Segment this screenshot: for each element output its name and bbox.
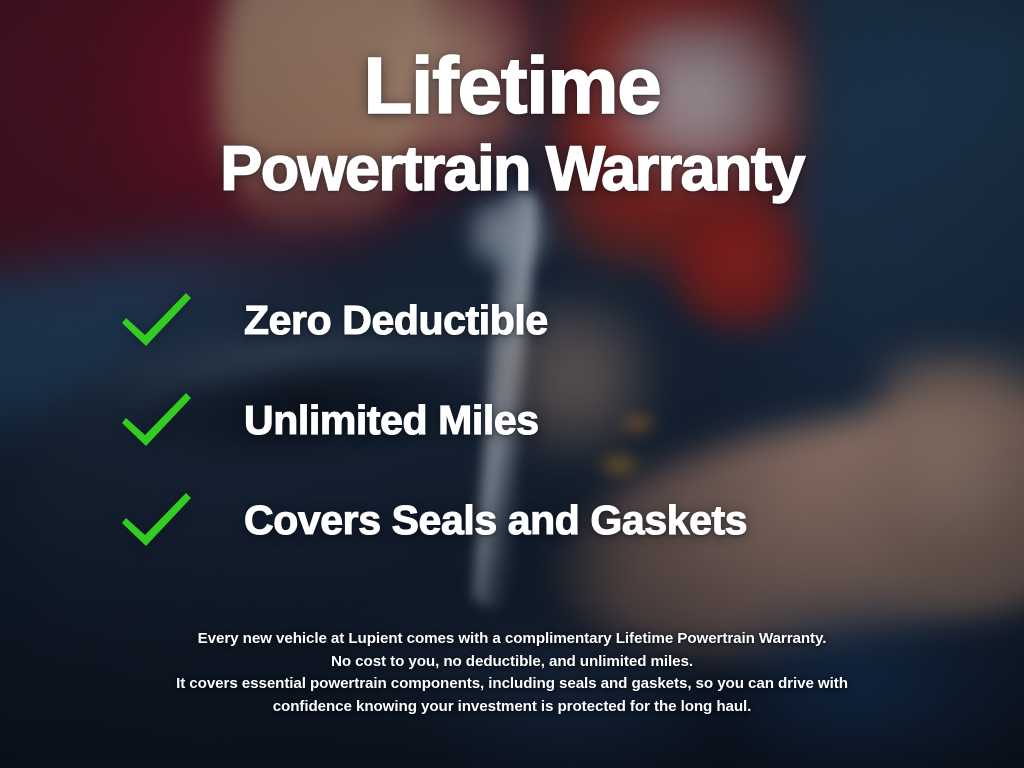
- feature-item: Covers Seals and Gaskets: [118, 486, 948, 554]
- body-copy-line-1: Every new vehicle at Lupient comes with …: [0, 628, 1024, 651]
- feature-list: Zero Deductible Unlimited Miles Covers S…: [118, 286, 948, 554]
- check-icon: [118, 290, 194, 350]
- feature-item: Zero Deductible: [118, 286, 948, 354]
- feature-item: Unlimited Miles: [118, 386, 948, 454]
- body-copy: Every new vehicle at Lupient comes with …: [0, 628, 1024, 718]
- headline: Lifetime Powertrain Warranty: [0, 46, 1024, 201]
- feature-label: Covers Seals and Gaskets: [244, 497, 747, 544]
- check-icon: [118, 390, 194, 450]
- check-icon: [118, 490, 194, 550]
- headline-line-1: Lifetime: [0, 46, 1024, 126]
- headline-line-2: Powertrain Warranty: [0, 138, 1024, 201]
- banner-content: Lifetime Powertrain Warranty Zero Deduct…: [0, 0, 1024, 768]
- body-copy-line-3: It covers essential powertrain component…: [0, 673, 1024, 696]
- body-copy-line-2: No cost to you, no deductible, and unlim…: [0, 651, 1024, 674]
- feature-label: Zero Deductible: [244, 297, 548, 344]
- feature-label: Unlimited Miles: [244, 397, 539, 444]
- promo-banner: Lifetime Powertrain Warranty Zero Deduct…: [0, 0, 1024, 768]
- body-copy-line-4: confidence knowing your investment is pr…: [0, 696, 1024, 719]
